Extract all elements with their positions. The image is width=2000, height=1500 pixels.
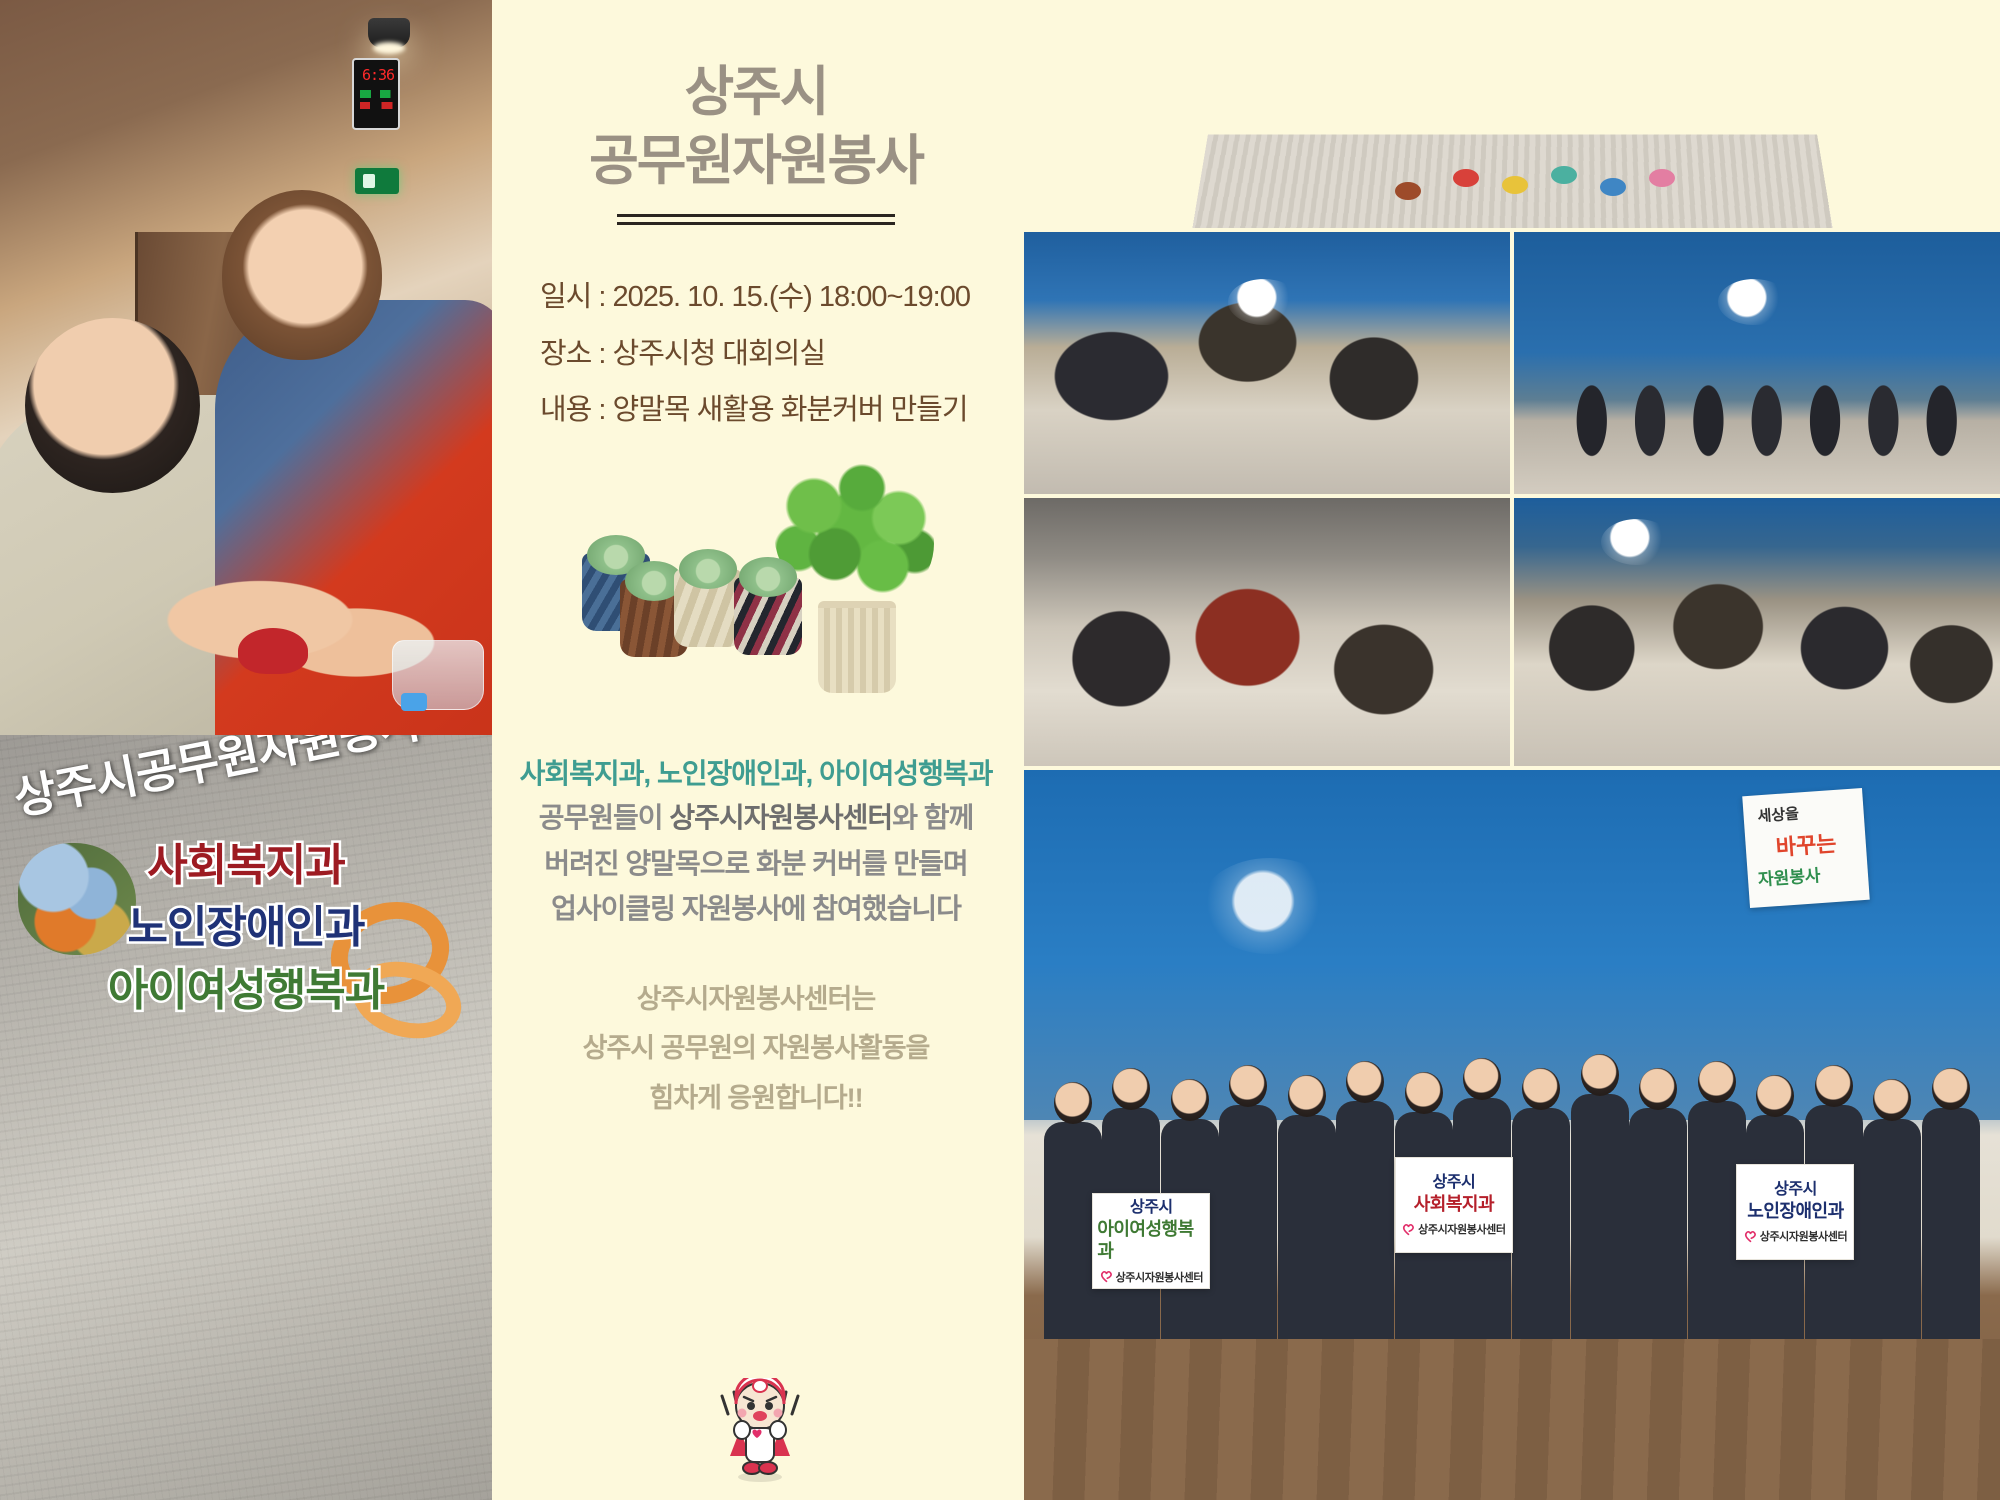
placard-child-women: 상주시 아이여성행복과 상주시자원봉사센터 xyxy=(1092,1193,1210,1289)
succulent-3 xyxy=(679,549,737,589)
digital-clock: 6:36 xyxy=(352,58,400,130)
person-head xyxy=(1522,1068,1560,1110)
exit-sign-icon xyxy=(355,168,399,194)
person-head xyxy=(1932,1068,1970,1110)
big-potted-plant-icon xyxy=(774,461,934,691)
closing-text-block: 상주시자원봉사센터는 상주시 공무원의 자원봉사활동을 힘차게 응원합니다!! xyxy=(492,975,1020,1122)
group-person xyxy=(1278,1115,1336,1339)
photo-table-activity-wide xyxy=(1024,0,2000,228)
person-head xyxy=(1171,1079,1209,1121)
page-title-line-2: 공무원자원봉사 xyxy=(492,127,1020,196)
placard-dept: 노인장애인과 xyxy=(1747,1200,1843,1223)
person-head xyxy=(1463,1058,1501,1100)
person-right-head xyxy=(222,190,382,360)
group-person xyxy=(1629,1108,1687,1339)
overlay-dept-child-women: 아이여성행복과 xyxy=(0,960,492,1022)
photo-group-placards: 세상을 바꾸는 자원봉사 xyxy=(1024,770,2000,1500)
page-title-line-1: 상주시 xyxy=(492,58,1020,127)
overlay-department-list: 사회복지과 노인장애인과 아이여성행복과 xyxy=(0,835,492,1022)
photo-table-activity-two xyxy=(1514,498,2000,766)
page-title: 상주시 공무원자원봉사 xyxy=(492,58,1020,196)
person-head xyxy=(1288,1075,1326,1117)
placard-city: 상주시 xyxy=(1774,1180,1817,1200)
plant-pot xyxy=(818,601,896,693)
placard-center: 상주시자원봉사센터 xyxy=(1744,1228,1847,1244)
left-photo-column: 6:36 상주시공무원자원봉사 사회복지과 노인장애인과 아이여성행복과 xyxy=(0,0,492,1500)
info-place: 장소 : 상주시청 대회의실 xyxy=(540,326,1020,383)
center-content-column: 상주시 공무원자원봉사 일시 : 2025. 10. 15.(수) 18:00~… xyxy=(492,0,1020,1500)
closing-line-3: 힘차게 응원합니다!! xyxy=(492,1074,1020,1123)
person-head xyxy=(1815,1065,1853,1107)
info-date: 일시 : 2025. 10. 15.(수) 18:00~19:00 xyxy=(540,269,1020,326)
body-line-2: 버려진 양말목으로 화분 커버를 만들며 xyxy=(492,841,1020,886)
city-emblem-icon xyxy=(1718,279,1790,325)
red-yarn-piece xyxy=(238,628,308,674)
group-person xyxy=(1922,1108,1980,1339)
event-info-block: 일시 : 2025. 10. 15.(수) 18:00~19:00 장소 : 상… xyxy=(492,269,1020,439)
group-person xyxy=(1863,1119,1921,1340)
placard-center: 상주시자원봉사센터 xyxy=(1100,1269,1203,1285)
person-head xyxy=(1581,1054,1619,1096)
body-text-block: 사회복지과, 노인장애인과, 아이여성행복과 공무원들이 상주시자원봉사센터와 … xyxy=(492,752,1020,931)
plant-illustration xyxy=(492,461,1020,746)
placard-center-label: 상주시자원봉사센터 xyxy=(1116,1269,1203,1285)
person-head xyxy=(1698,1061,1736,1103)
photo-table-activity-closeup: 6:36 xyxy=(0,0,492,735)
overlay-rotated-title: 상주시공무원자원봉사 xyxy=(8,735,426,828)
yarn-dot xyxy=(1649,169,1675,187)
poster-root: 6:36 상주시공무원자원봉사 사회복지과 노인장애인과 아이여성행복과 xyxy=(0,0,2000,1500)
succulent-4 xyxy=(739,557,797,597)
placard-center-label: 상주시자원봉사센터 xyxy=(1418,1221,1505,1237)
placard-dept: 아이여성행복과 xyxy=(1097,1218,1205,1263)
heart-icon xyxy=(1100,1270,1113,1283)
group-person xyxy=(1219,1105,1277,1340)
banner-line-3: 자원봉사 xyxy=(1757,861,1821,890)
right-photo-grid: 세상을 바꾸는 자원봉사 xyxy=(1020,0,2000,1500)
photo-workshop-left xyxy=(1024,232,1510,494)
closing-line-2: 상주시 공무원의 자원봉사활동을 xyxy=(492,1024,1020,1073)
photo-newspaper-overlay: 상주시공무원자원봉사 사회복지과 노인장애인과 아이여성행복과 상주시자원봉사센… xyxy=(0,735,492,1500)
body-line-1-suffix: 와 함께 xyxy=(892,802,973,833)
yarn-dot xyxy=(1600,178,1626,196)
stage-emblem-icon xyxy=(1200,858,1340,954)
group-person xyxy=(1512,1108,1570,1339)
stage-banner-sign: 세상을 바꾸는 자원봉사 xyxy=(1742,788,1870,908)
person-head xyxy=(1639,1068,1677,1110)
person-head xyxy=(1346,1061,1384,1103)
mascot-character-icon xyxy=(720,1378,800,1488)
info-content: 내용 : 양말목 새활용 화분커버 만들기 xyxy=(540,382,1020,439)
placard-center: 상주시자원봉사센터 xyxy=(1402,1221,1505,1237)
heart-icon xyxy=(1402,1223,1415,1236)
yarn-dot xyxy=(1453,169,1479,187)
body-departments: 사회복지과, 노인장애인과, 아이여성행복과 xyxy=(492,752,1020,795)
plastic-bottle xyxy=(392,640,484,710)
photo-materials-box xyxy=(1024,498,1510,766)
person-head xyxy=(1405,1072,1443,1114)
city-emblem-icon xyxy=(1228,279,1300,325)
placard-social-welfare: 상주시 사회복지과 상주시자원봉사센터 xyxy=(1395,1157,1513,1253)
overlay-dept-elderly-disabled: 노인장애인과 xyxy=(0,897,492,959)
group-person xyxy=(1571,1094,1629,1339)
placard-dept: 사회복지과 xyxy=(1414,1193,1494,1216)
stage-floor xyxy=(1024,1339,2000,1500)
person-left-head xyxy=(25,318,200,493)
yarn-dot xyxy=(1502,176,1528,194)
person-head xyxy=(1756,1075,1794,1117)
overlay-dept-social-welfare: 사회복지과 xyxy=(0,835,492,897)
clock-indicator-red xyxy=(360,102,396,109)
banner-line-2: 바꾸는 xyxy=(1775,826,1838,862)
closing-line-1: 상주시자원봉사센터는 xyxy=(492,975,1020,1024)
placard-elderly-disabled: 상주시 노인장애인과 상주시자원봉사센터 xyxy=(1736,1164,1854,1260)
person-head xyxy=(1054,1082,1092,1124)
group-person xyxy=(1336,1101,1394,1339)
photo-group-standing xyxy=(1514,232,2000,494)
body-line-1: 공무원들이 상주시자원봉사센터와 함께 xyxy=(492,795,1020,840)
placard-center-label: 상주시자원봉사센터 xyxy=(1760,1228,1847,1244)
placard-city: 상주시 xyxy=(1433,1173,1476,1193)
person-head xyxy=(1229,1065,1267,1107)
city-emblem-icon xyxy=(1601,519,1673,565)
clock-display: 6:36 xyxy=(358,66,398,84)
body-line-1-prefix: 공무원들이 xyxy=(539,802,670,833)
ceiling-lamp-icon xyxy=(368,18,410,48)
placard-city: 상주시 xyxy=(1130,1198,1173,1218)
body-line-1-emphasis: 상주시자원봉사센터 xyxy=(669,802,892,833)
heart-icon xyxy=(1744,1230,1757,1243)
person-head xyxy=(1112,1068,1150,1110)
title-divider xyxy=(617,214,895,217)
banner-line-1: 세상을 xyxy=(1757,802,1800,826)
body-line-3: 업사이클링 자원봉사에 참여했습니다 xyxy=(492,886,1020,931)
clock-indicator-green xyxy=(360,90,396,98)
person-head xyxy=(1873,1079,1911,1121)
